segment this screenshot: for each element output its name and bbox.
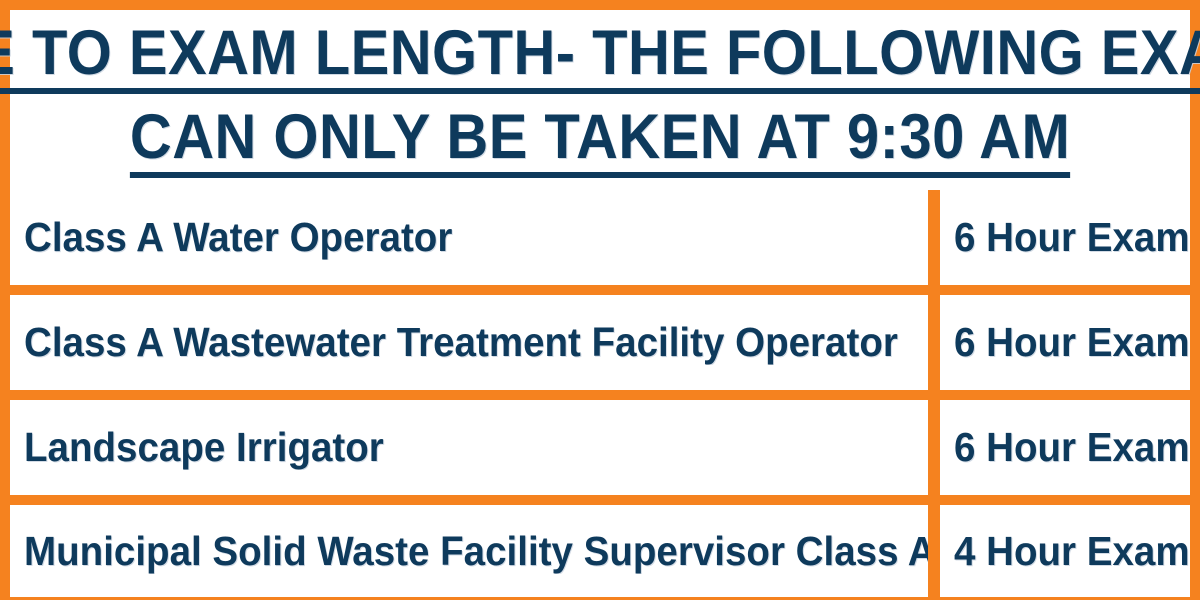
table-row: Landscape Irrigator 6 Hour Exam	[0, 400, 1200, 495]
table-row: Municipal Solid Waste Facility Superviso…	[0, 505, 1200, 597]
exam-name-label: Landscape Irrigator	[24, 427, 384, 468]
title-line-1: DUE TO EXAM LENGTH- THE FOLLOWING EXAMS	[0, 24, 1200, 94]
exam-name-cell: Class A Wastewater Treatment Facility Op…	[10, 295, 928, 390]
table-row: Class A Wastewater Treatment Facility Op…	[0, 295, 1200, 390]
exam-name-label: Municipal Solid Waste Facility Superviso…	[24, 531, 928, 572]
column-divider	[928, 400, 940, 495]
exam-duration-label: 6 Hour Exam	[954, 427, 1190, 468]
title-panel: DUE TO EXAM LENGTH- THE FOLLOWING EXAMS …	[10, 10, 1190, 190]
exam-duration-label: 6 Hour Exam	[954, 322, 1190, 363]
column-divider	[928, 505, 940, 597]
exam-name-cell: Class A Water Operator	[10, 190, 928, 285]
title-line-2: CAN ONLY BE TAKEN AT 9:30 AM	[130, 108, 1070, 178]
exam-name-cell: Municipal Solid Waste Facility Superviso…	[10, 505, 928, 597]
exam-table: Class A Water Operator 6 Hour Exam Class…	[0, 190, 1200, 600]
exam-duration-cell: 6 Hour Exam	[940, 400, 1190, 495]
exam-duration-label: 6 Hour Exam	[954, 217, 1190, 258]
exam-notice-poster: DUE TO EXAM LENGTH- THE FOLLOWING EXAMS …	[0, 0, 1200, 600]
exam-duration-label: 4 Hour Exam	[954, 531, 1190, 572]
exam-duration-cell: 4 Hour Exam	[940, 505, 1190, 597]
column-divider	[928, 190, 940, 285]
exam-name-label: Class A Water Operator	[24, 217, 452, 258]
exam-duration-cell: 6 Hour Exam	[940, 295, 1190, 390]
exam-duration-cell: 6 Hour Exam	[940, 190, 1190, 285]
exam-name-label: Class A Wastewater Treatment Facility Op…	[24, 322, 898, 363]
column-divider	[928, 295, 940, 390]
table-row: Class A Water Operator 6 Hour Exam	[0, 190, 1200, 285]
exam-name-cell: Landscape Irrigator	[10, 400, 928, 495]
